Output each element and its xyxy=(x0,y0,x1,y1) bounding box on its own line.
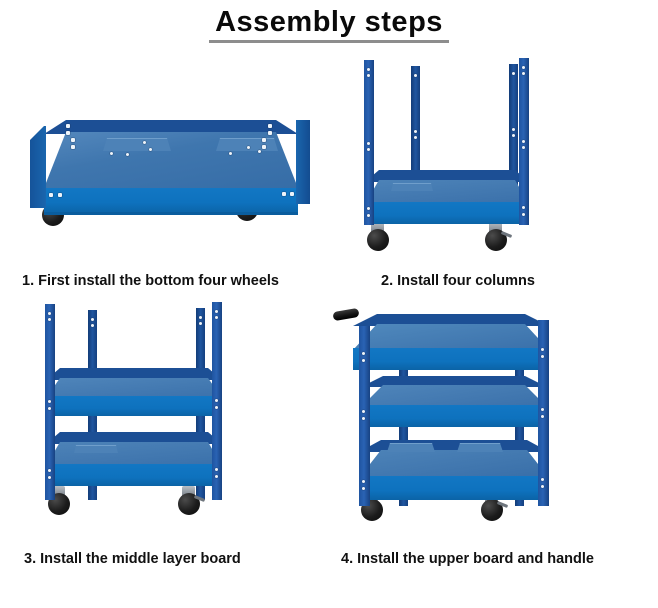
bolt-hole-icon xyxy=(522,72,525,75)
bolt-hole-icon xyxy=(362,359,365,362)
bolt-hole-icon xyxy=(199,322,202,325)
bolt-hole-icon xyxy=(367,142,370,145)
page-header: Assembly steps xyxy=(0,0,658,43)
floor-mounting-plate-right xyxy=(216,138,278,152)
page-title: Assembly steps xyxy=(209,7,449,43)
bolt-hole-icon xyxy=(110,152,113,155)
bolt-hole-icon xyxy=(91,318,94,321)
bottom-floor-mounting-plate-left xyxy=(387,443,435,453)
bolt-hole-icon xyxy=(522,206,525,209)
bolt-hole-icon xyxy=(48,312,51,315)
bottom-tray-floor xyxy=(46,442,222,466)
bolt-hole-icon xyxy=(215,406,218,409)
bolt-hole-icon xyxy=(367,74,370,77)
middle-shelf-front-wall xyxy=(46,396,222,416)
bolt-hole-icon xyxy=(414,130,417,133)
bolt-hole-icon xyxy=(522,213,525,216)
bolt-hole-icon xyxy=(541,408,544,411)
tray-right-end-wall xyxy=(296,120,310,204)
step-1-figure xyxy=(0,52,329,268)
bolt-hole-icon xyxy=(48,318,51,321)
bolt-hole-icon xyxy=(215,316,218,319)
bolt-hole-icon xyxy=(215,399,218,402)
bolt-hole-icon xyxy=(149,148,152,151)
bolt-hole-icon xyxy=(229,152,232,155)
step-4-caption: 4. Install the upper board and handle xyxy=(329,546,658,568)
assembly-step-3: 3. Install the middle layer board xyxy=(0,290,329,568)
bolt-hole-icon xyxy=(48,476,51,479)
assembly-step-1: 1. First install the bottom four wheels xyxy=(0,52,329,290)
bolt-hole-icon xyxy=(215,468,218,471)
bottom-tray-floor xyxy=(359,450,549,478)
tray-floor xyxy=(365,180,529,204)
floor-mounting-plate-left xyxy=(103,138,171,152)
assembly-step-2: 2. Install four columns xyxy=(329,52,658,290)
push-handle-grip-icon xyxy=(332,308,359,321)
step-3-caption: 3. Install the middle layer board xyxy=(0,546,329,568)
bolt-hole-icon xyxy=(541,415,544,418)
bolt-hole-icon xyxy=(512,128,515,131)
bolt-hole-icon xyxy=(268,124,272,128)
bolt-hole-icon xyxy=(290,192,294,196)
bolt-hole-icon xyxy=(541,485,544,488)
bolt-hole-icon xyxy=(522,140,525,143)
tray-front-wall xyxy=(44,188,298,214)
upper-shelf-front-wall xyxy=(353,348,549,370)
middle-shelf-front-wall xyxy=(361,405,547,427)
bolt-hole-icon xyxy=(362,487,365,490)
bolt-hole-icon xyxy=(522,146,525,149)
bolt-hole-icon xyxy=(512,72,515,75)
bolt-hole-icon xyxy=(48,407,51,410)
assembly-step-4: 4. Install the upper board and handle xyxy=(329,290,658,568)
middle-shelf-floor xyxy=(46,378,222,398)
bolt-hole-icon xyxy=(126,153,129,156)
bolt-hole-icon xyxy=(522,66,525,69)
step-2-caption: 2. Install four columns xyxy=(329,268,658,290)
tray-front-wall xyxy=(365,202,529,224)
bolt-hole-icon xyxy=(262,145,266,149)
bolt-hole-icon xyxy=(215,475,218,478)
bolt-hole-icon xyxy=(49,193,53,197)
upper-shelf-floor xyxy=(353,324,549,350)
step-3-figure xyxy=(0,290,329,546)
bolt-hole-icon xyxy=(282,192,286,196)
bolt-hole-icon xyxy=(541,478,544,481)
bolt-hole-icon xyxy=(367,148,370,151)
bolt-hole-icon xyxy=(362,410,365,413)
bolt-hole-icon xyxy=(414,74,417,77)
step-1-caption: 1. First install the bottom four wheels xyxy=(0,268,329,290)
middle-shelf-floor xyxy=(361,385,547,407)
bolt-hole-icon xyxy=(362,480,365,483)
bolt-hole-icon xyxy=(71,145,75,149)
assembly-steps-grid: 1. First install the bottom four wheels xyxy=(0,52,658,608)
bolt-hole-icon xyxy=(71,138,75,142)
bolt-hole-icon xyxy=(143,141,146,144)
bolt-hole-icon xyxy=(541,355,544,358)
bolt-hole-icon xyxy=(362,352,365,355)
bolt-hole-icon xyxy=(414,136,417,139)
bolt-hole-icon xyxy=(48,400,51,403)
bolt-hole-icon xyxy=(367,207,370,210)
bottom-tray-front-wall xyxy=(46,464,222,486)
bolt-hole-icon xyxy=(58,193,62,197)
bolt-hole-icon xyxy=(66,131,70,135)
bolt-hole-icon xyxy=(262,138,266,142)
tray-left-end-wall xyxy=(30,126,46,208)
step-2-figure xyxy=(329,52,658,268)
bolt-hole-icon xyxy=(367,68,370,71)
bolt-hole-icon xyxy=(199,316,202,319)
bolt-hole-icon xyxy=(91,324,94,327)
floor-mounting-plate xyxy=(391,183,433,192)
bolt-hole-icon xyxy=(362,417,365,420)
bolt-hole-icon xyxy=(215,310,218,313)
step-4-figure xyxy=(329,290,658,546)
tray-front-rim xyxy=(44,212,298,215)
bottom-tray-front-wall xyxy=(359,476,549,500)
tray-back-lip xyxy=(44,120,298,134)
bolt-hole-icon xyxy=(258,150,261,153)
bolt-hole-icon xyxy=(48,469,51,472)
bottom-floor-mounting-plate xyxy=(74,445,118,454)
bolt-hole-icon xyxy=(541,348,544,351)
bottom-floor-mounting-plate-right xyxy=(457,443,503,453)
bolt-hole-icon xyxy=(268,131,272,135)
bolt-hole-icon xyxy=(247,146,250,149)
bolt-hole-icon xyxy=(367,214,370,217)
bolt-hole-icon xyxy=(512,134,515,137)
bolt-hole-icon xyxy=(66,124,70,128)
